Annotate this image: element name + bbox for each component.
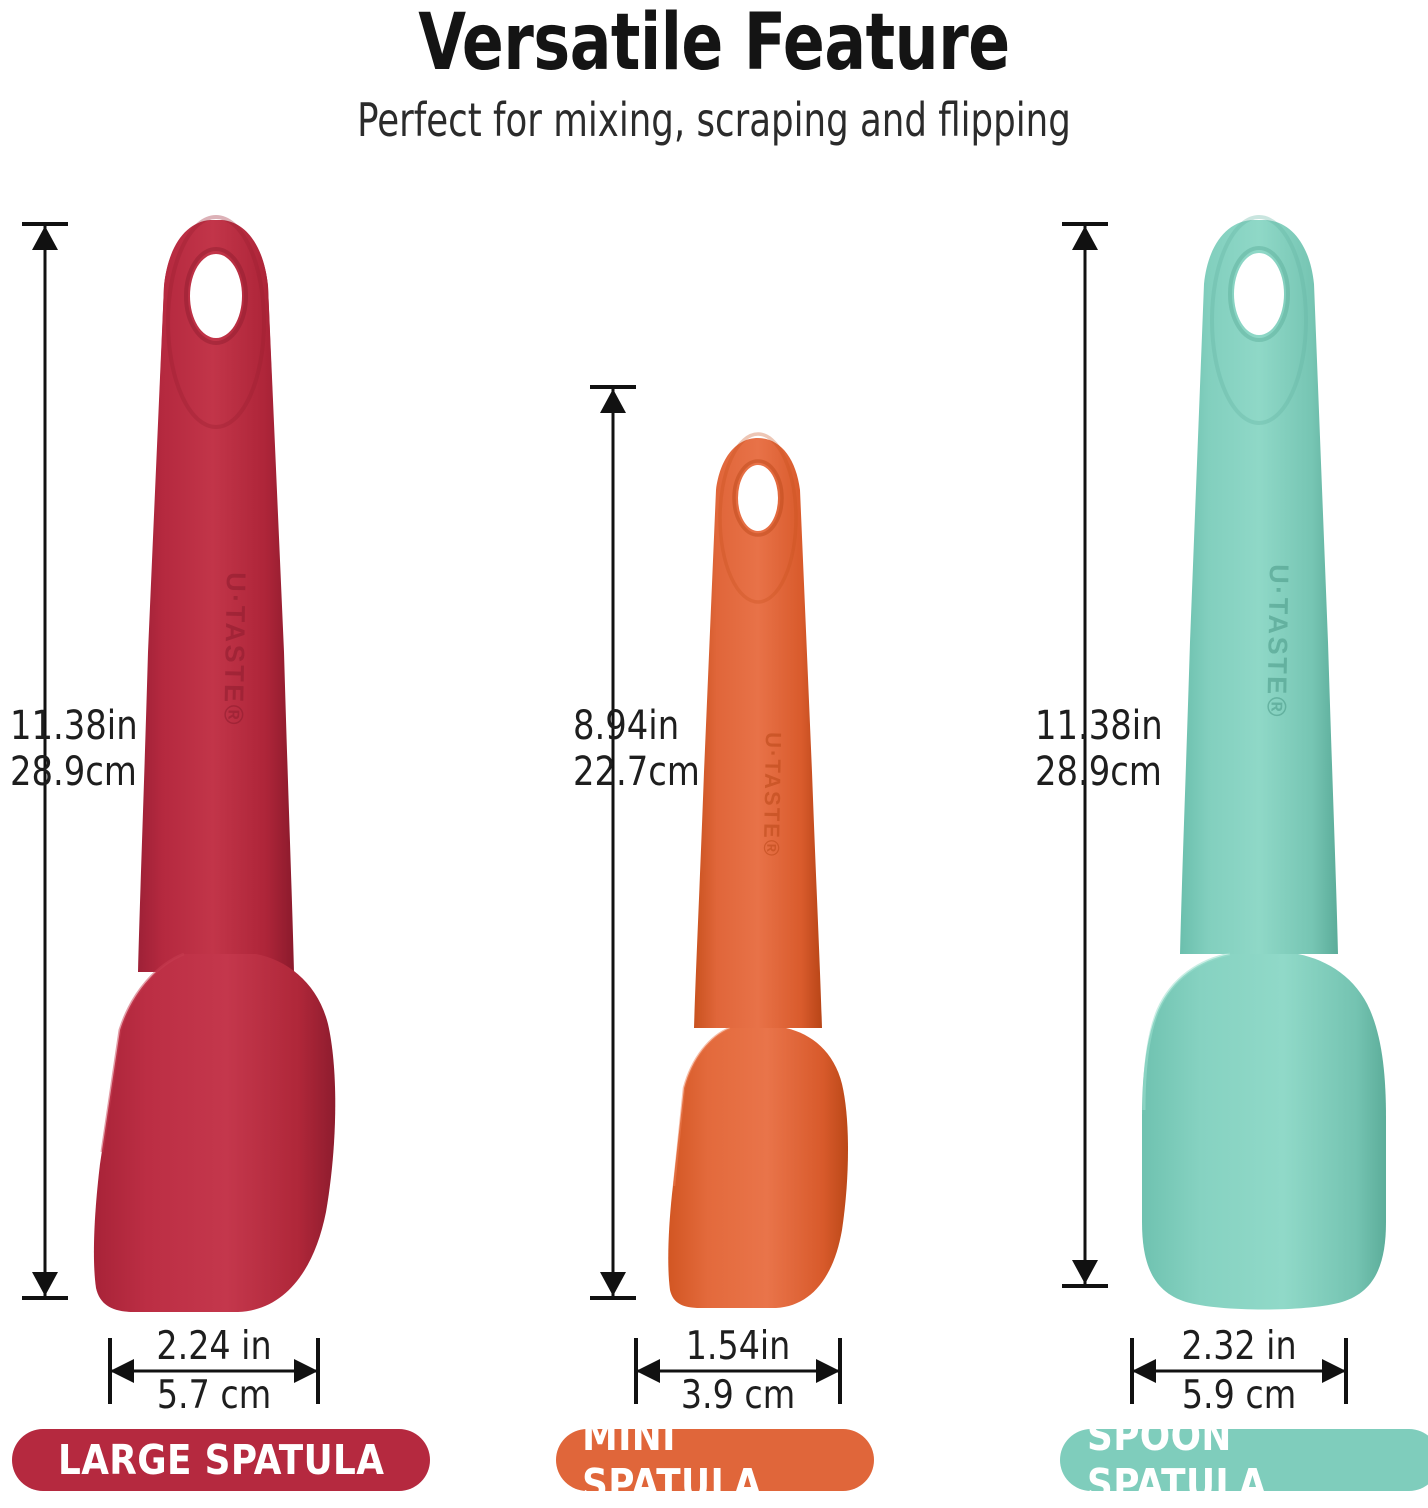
large-spatula-illustration: U·TASTE® <box>88 212 348 1322</box>
width-inches: 2.24 in <box>156 1327 271 1366</box>
mini-spatula-width-ruler: 1.54in 3.9 cm <box>634 1338 842 1404</box>
ruler-arrow-right-icon <box>294 1359 318 1383</box>
hang-hole <box>738 465 778 531</box>
hang-hole <box>190 254 242 338</box>
brand-emboss-text: U·TASTE® <box>218 572 251 727</box>
badge-mini-spatula: MINI SPATULA <box>556 1429 874 1491</box>
ruler-arrow-left-icon <box>636 1359 660 1383</box>
large-spatula-width-ruler: 2.24 in 5.7 cm <box>108 1338 320 1404</box>
ruler-arrow-down-icon <box>1072 1260 1098 1284</box>
ruler-cap-bottom <box>1062 1284 1108 1288</box>
width-centimeters: 5.7 cm <box>157 1376 271 1415</box>
bowl <box>1142 954 1386 1310</box>
spoon-spatula-illustration: U·TASTE® <box>1128 212 1398 1312</box>
mini-spatula-illustration: U·TASTE® <box>664 432 854 1312</box>
badge-spoon-spatula: SPOON SPATULA <box>1060 1429 1428 1491</box>
product-comparison-stage: 11.38in 28.9cm <box>0 0 1428 1497</box>
width-inches: 1.54in <box>686 1327 791 1366</box>
width-inches: 2.32 in <box>1181 1327 1296 1366</box>
badge-label: SPOON SPATULA <box>1087 1412 1413 1508</box>
ruler-arrow-left-icon <box>1132 1359 1156 1383</box>
ruler-cap-bottom <box>590 1296 636 1300</box>
ruler-arrow-right-icon <box>1322 1359 1346 1383</box>
ruler-arrow-left-icon <box>110 1359 134 1383</box>
ruler-arrow-up-icon <box>600 389 626 413</box>
ruler-arrow-up-icon <box>1072 226 1098 250</box>
width-centimeters: 3.9 cm <box>681 1376 795 1415</box>
badge-label: LARGE SPATULA <box>58 1436 384 1484</box>
ruler-cap-bottom <box>22 1296 68 1300</box>
ruler-line <box>612 387 615 1298</box>
blade <box>668 1028 848 1308</box>
width-centimeters: 5.9 cm <box>1182 1376 1296 1415</box>
ruler-arrow-down-icon <box>600 1272 626 1296</box>
badge-large-spatula: LARGE SPATULA <box>12 1429 430 1491</box>
brand-emboss-text: U·TASTE® <box>1261 564 1294 719</box>
ruler-arrow-up-icon <box>32 226 58 250</box>
spoon-spatula-width-ruler: 2.32 in 5.9 cm <box>1130 1338 1348 1404</box>
ruler-arrow-right-icon <box>816 1359 840 1383</box>
ruler-arrow-down-icon <box>32 1272 58 1296</box>
hang-hole <box>1234 253 1284 335</box>
brand-emboss-text: U·TASTE® <box>759 732 786 858</box>
badge-label: MINI SPATULA <box>582 1412 848 1508</box>
